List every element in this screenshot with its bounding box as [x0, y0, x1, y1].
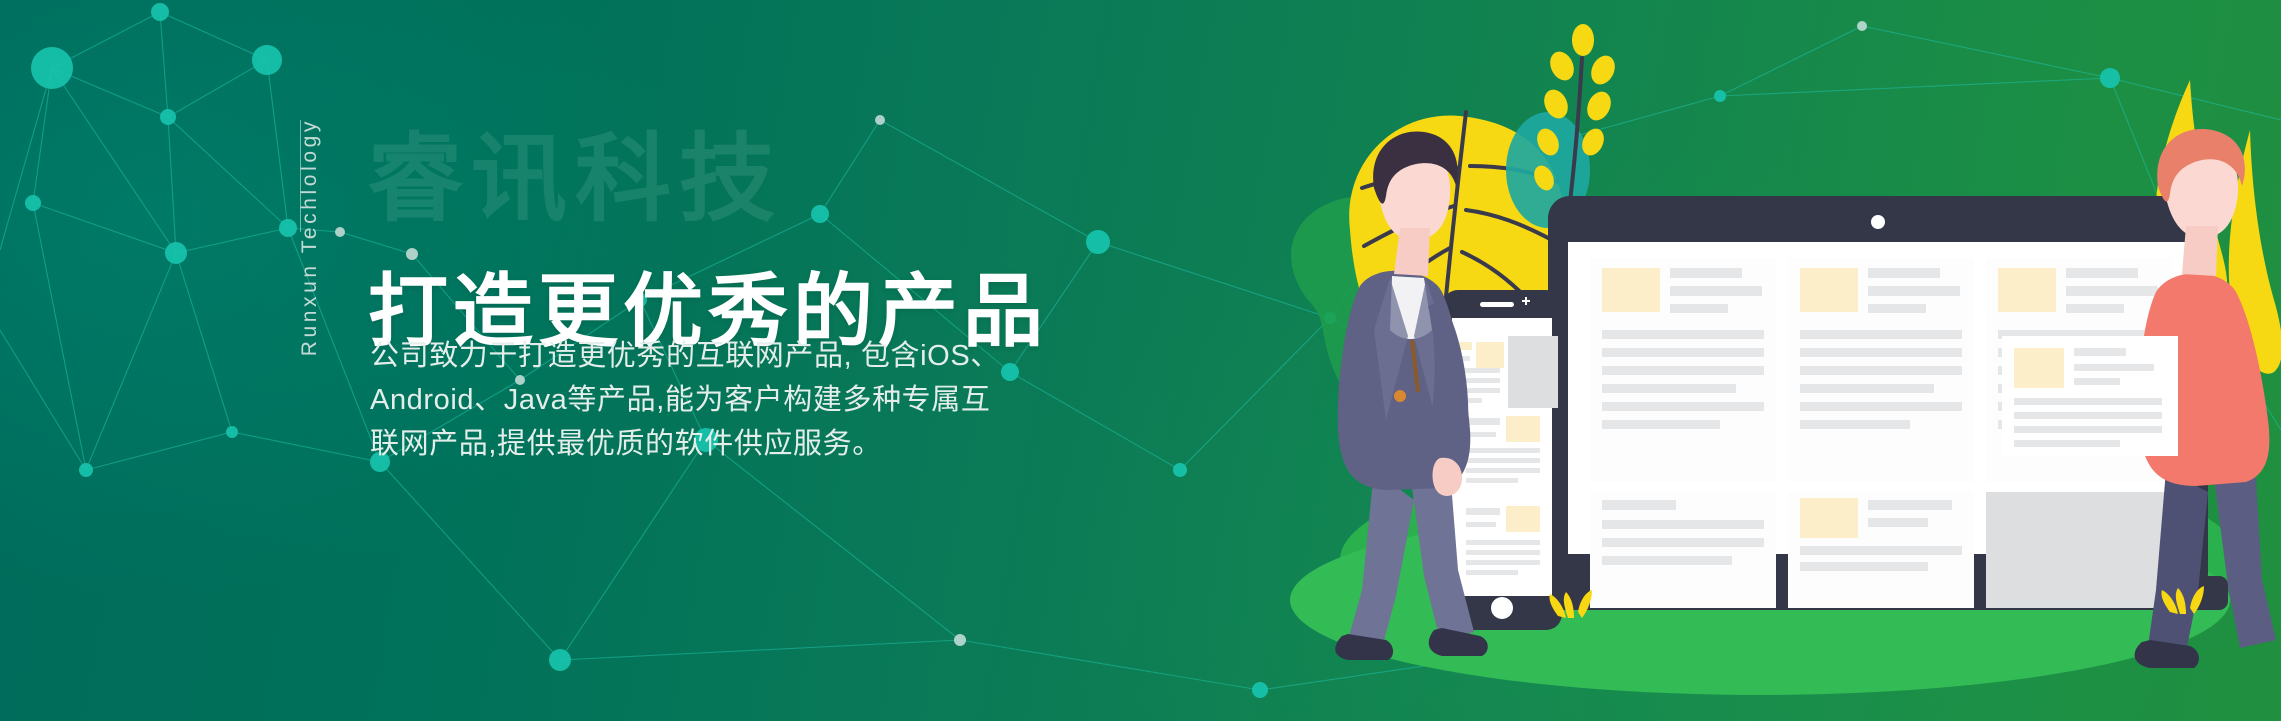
article-card: [1590, 492, 1776, 608]
laptop-camera: [1871, 215, 1885, 229]
article-card: [1458, 500, 1550, 582]
illustration-svg: [1290, 0, 2281, 721]
article-card: [1590, 258, 1776, 482]
paragraph-line-2: Android、Java等产品,能为客户构建多种专属互: [370, 378, 1190, 422]
brand-vertical-wrap: Runxun Techlology: [278, 120, 328, 550]
hero-banner: Runxun Techlology 睿讯科技 打造更优秀的产品 公司致力于打造更…: [0, 0, 2281, 721]
text-column: Runxun Techlology 睿讯科技 打造更优秀的产品 公司致力于打造更…: [0, 0, 1160, 721]
description-paragraph: 公司致力于打造更优秀的互联网产品, 包含iOS、 Android、Java等产品…: [370, 334, 1190, 466]
hero-illustration: [1290, 0, 2281, 721]
phone-home-button: [1491, 597, 1513, 619]
watermark-text: 睿讯科技: [367, 132, 783, 228]
article-card: [1458, 410, 1550, 492]
phone-speaker: [1480, 302, 1514, 307]
paragraph-line-1: 公司致力于打造更优秀的互联网产品, 包含iOS、: [370, 334, 1190, 378]
brand-vertical-text: Runxun Techlology: [298, 118, 322, 538]
article-card: [1788, 258, 1974, 482]
article-card: [1788, 492, 1974, 608]
floating-document-right: [2002, 336, 2178, 456]
article-card: [1986, 492, 2172, 608]
paragraph-line-3: 联网产品,提供最优质的软件供应服务。: [370, 422, 1190, 466]
